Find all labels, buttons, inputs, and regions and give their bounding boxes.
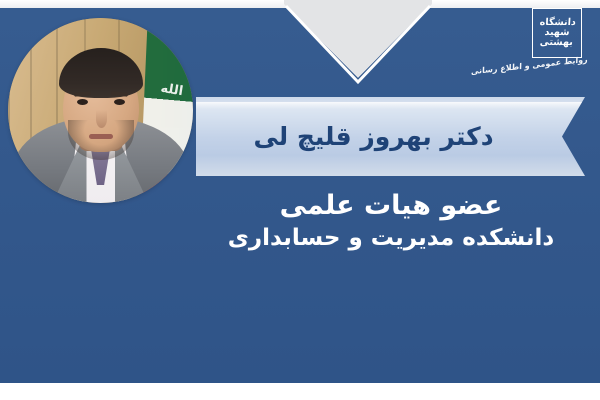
portrait-mouth [89, 134, 113, 139]
avatar: الله [8, 18, 193, 203]
portrait-hair [59, 48, 143, 98]
logo-frame-text: دانشگاه شهید بهشتی [531, 9, 582, 57]
logo-frame: دانشگاه شهید بهشتی [532, 8, 582, 58]
portrait-photo: الله [8, 18, 193, 203]
portrait-eye-right [114, 99, 125, 105]
subtitle-block: عضو هیات علمی دانشکده مدیریت و حسابداری [196, 190, 586, 253]
subtitle-department: دانشکده مدیریت و حسابداری [196, 224, 586, 253]
flag-script-text: الله [144, 78, 193, 101]
faculty-profile-card: دانشگاه شهید بهشتی روابط عمومی و اطلاع ر… [0, 0, 600, 400]
portrait-nose [96, 110, 107, 128]
page-title: دکتر بهروز قلیچ لی [196, 97, 585, 176]
portrait-eye-left [77, 99, 88, 105]
logo-line-3: بهشتی [539, 38, 573, 48]
subtitle-role: عضو هیات علمی [196, 190, 586, 222]
university-logo: دانشگاه شهید بهشتی روابط عمومی و اطلاع ر… [492, 6, 588, 88]
name-ribbon: دکتر بهروز قلیچ لی [196, 97, 585, 176]
